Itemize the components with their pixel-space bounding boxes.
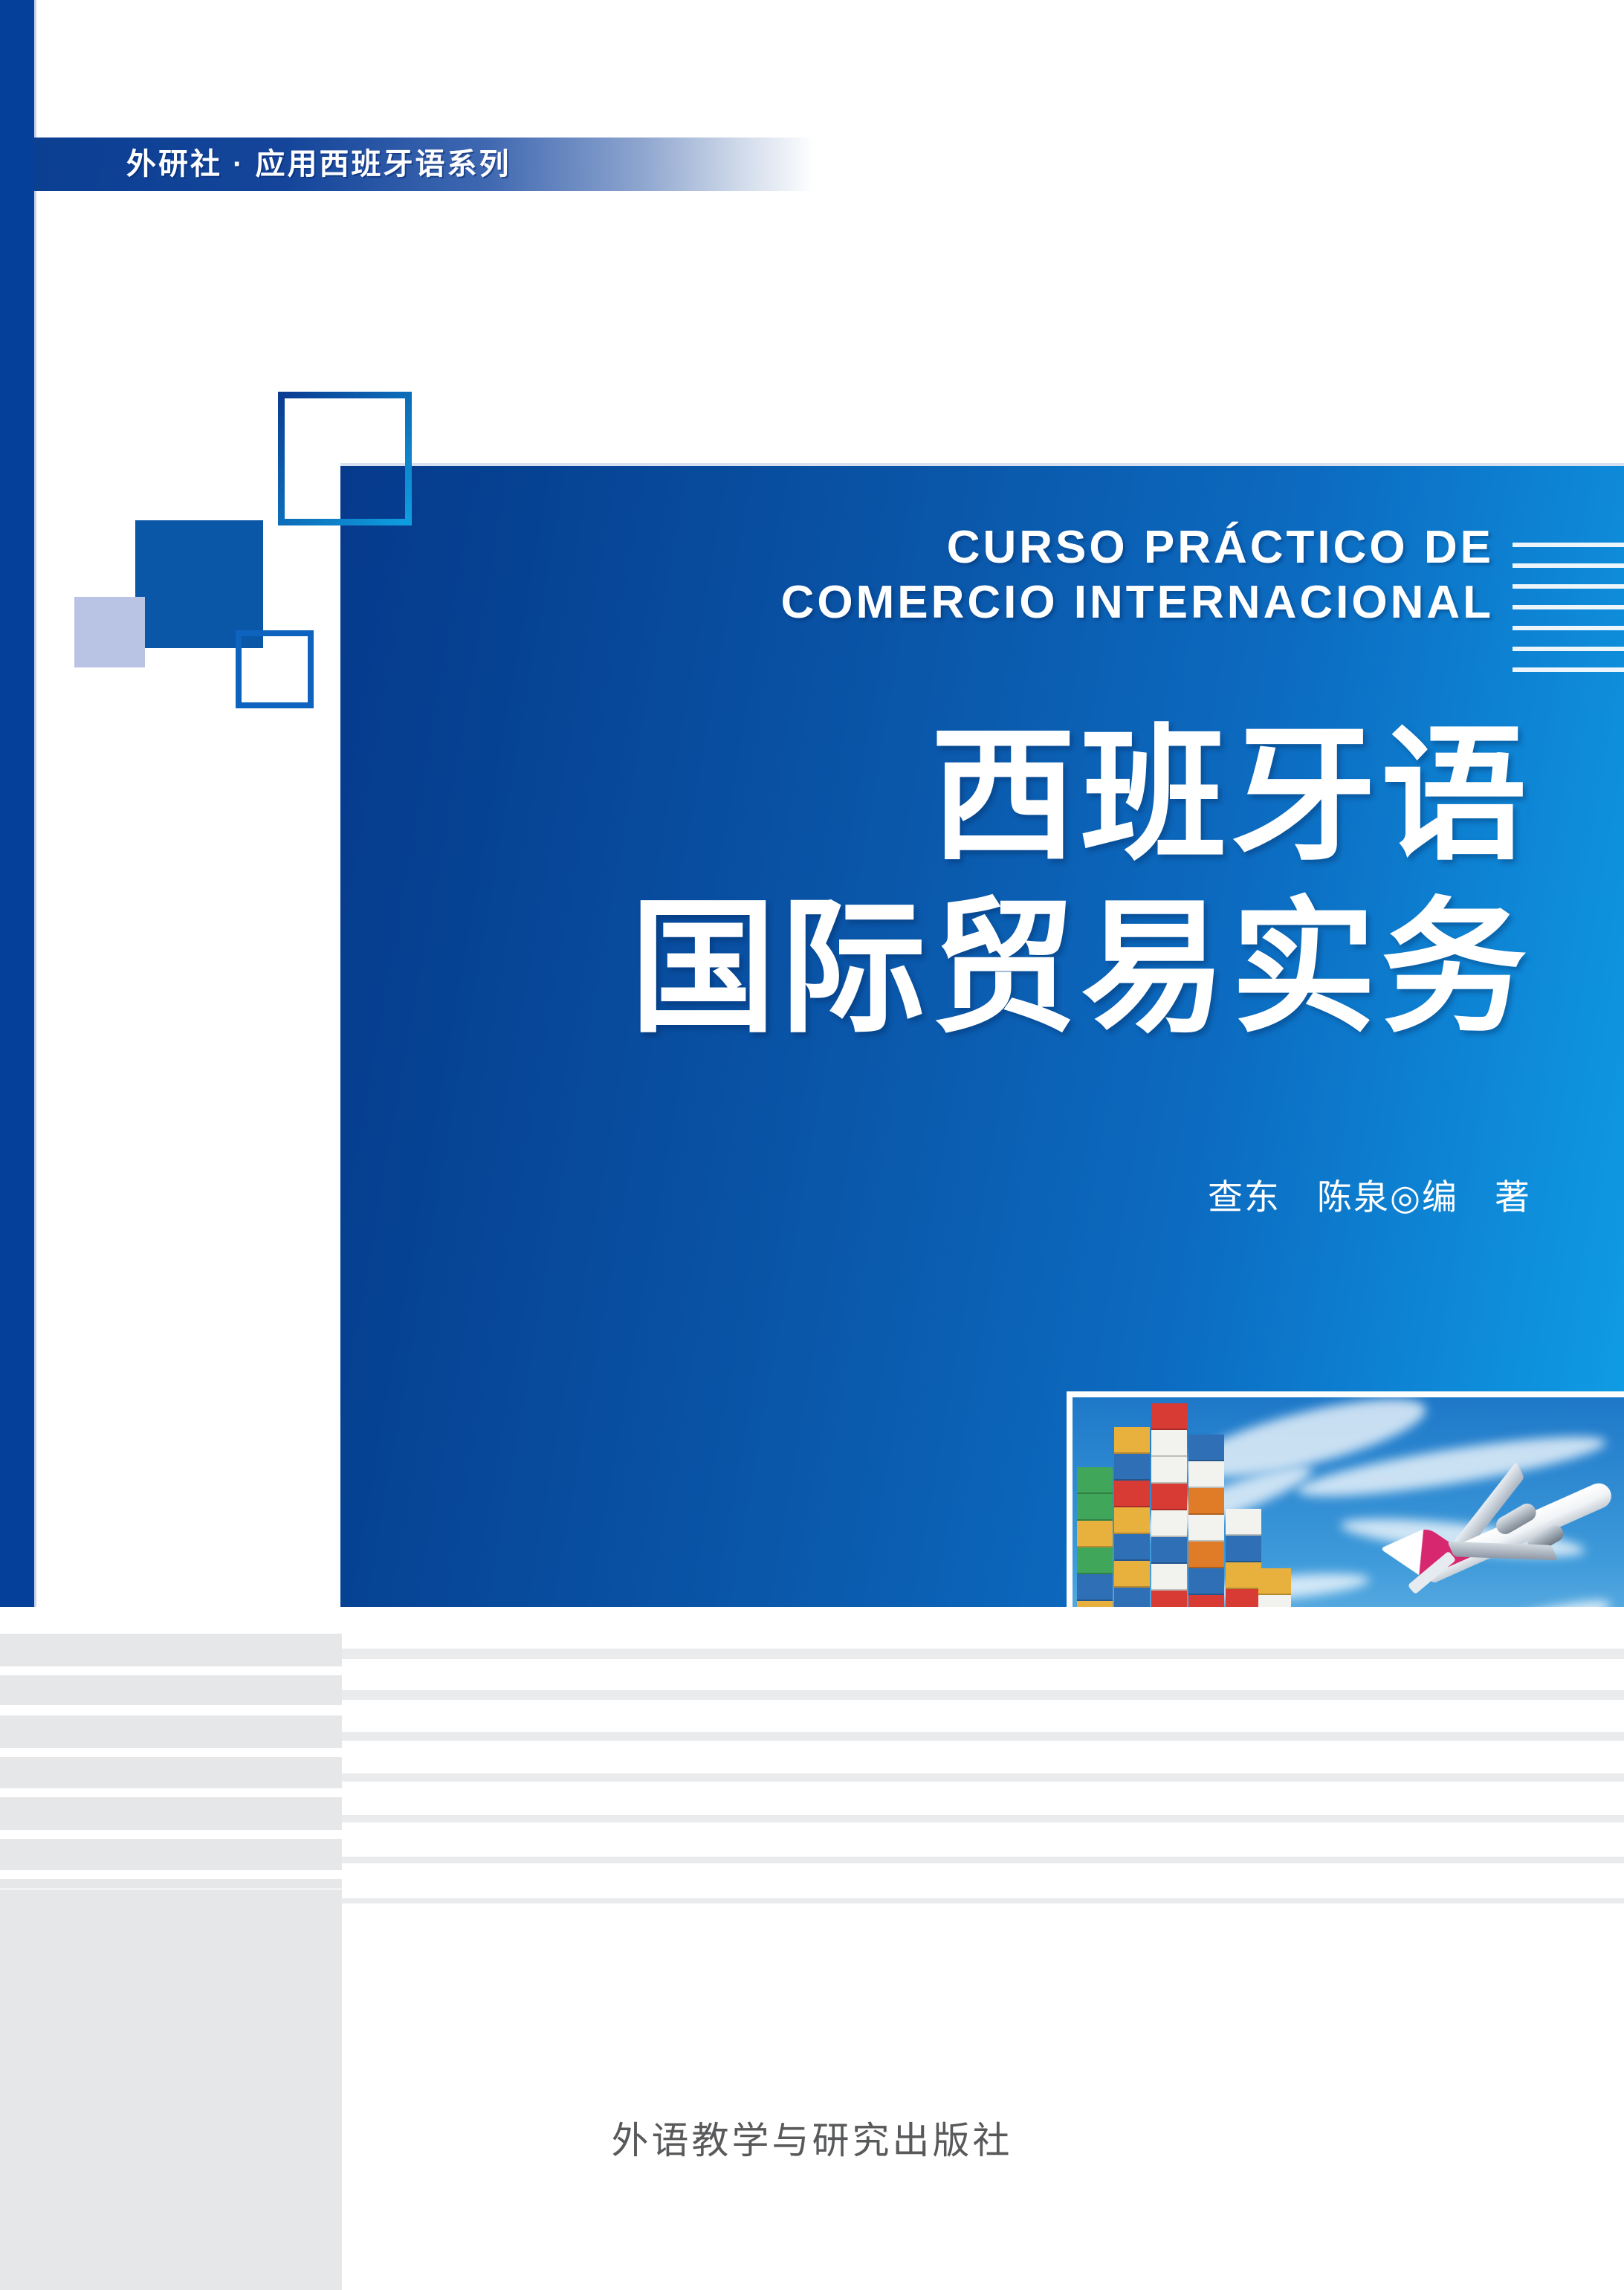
- author-line: 查东 陈泉◎编 著: [818, 1168, 1531, 1220]
- stripe-left: [0, 1839, 342, 1870]
- stripe-right: [342, 1690, 1624, 1700]
- chinese-title-line-2: 国际贸易实务: [416, 882, 1531, 1055]
- spanish-title-line-1: CURSO PRÁCTICO DE: [446, 520, 1494, 575]
- stripe-right: [342, 1773, 1624, 1782]
- publisher-name: 外语教学与研究出版社: [0, 2111, 1624, 2164]
- decorative-hairlines-right: [1513, 543, 1624, 676]
- stripe-right: [342, 1649, 1624, 1659]
- stripe-right: [342, 1732, 1624, 1741]
- stripe-left: [0, 1757, 342, 1788]
- gray-block-hairline: [0, 1888, 342, 1890]
- airplane-fuselage: [1422, 1479, 1615, 1584]
- series-banner-label: 外研社 · 应用西班牙语系列: [126, 141, 795, 187]
- decorative-square-outline-small: [236, 630, 314, 708]
- stripe-left: [0, 1634, 342, 1666]
- left-strip-hairline: [34, 0, 36, 1607]
- bottom-gray-block: [0, 1892, 342, 2290]
- chinese-title: 西班牙语 国际贸易实务: [416, 710, 1531, 1055]
- spanish-title-line-2: COMERCIO INTERNACIONAL: [446, 575, 1494, 630]
- stripe-right: [342, 1815, 1624, 1822]
- stripe-left: [0, 1879, 342, 1894]
- decorative-square-lavender: [74, 597, 145, 667]
- stripe-left: [0, 1715, 342, 1748]
- stripe-right: [342, 1898, 1624, 1904]
- stripe-left: [0, 1675, 342, 1705]
- chinese-title-line-1: 西班牙语: [416, 710, 1531, 882]
- stripe-left: [0, 1797, 342, 1830]
- book-cover: 外研社 · 应用西班牙语系列 CURSO PRÁCTICO DE COMERCI…: [0, 0, 1624, 2290]
- left-blue-strip: [0, 0, 34, 1607]
- decorative-square-outline-large: [278, 392, 412, 525]
- stripe-right: [342, 1857, 1624, 1863]
- spanish-title: CURSO PRÁCTICO DE COMERCIO INTERNACIONAL: [446, 520, 1494, 630]
- decorative-square-solid-blue: [135, 520, 263, 648]
